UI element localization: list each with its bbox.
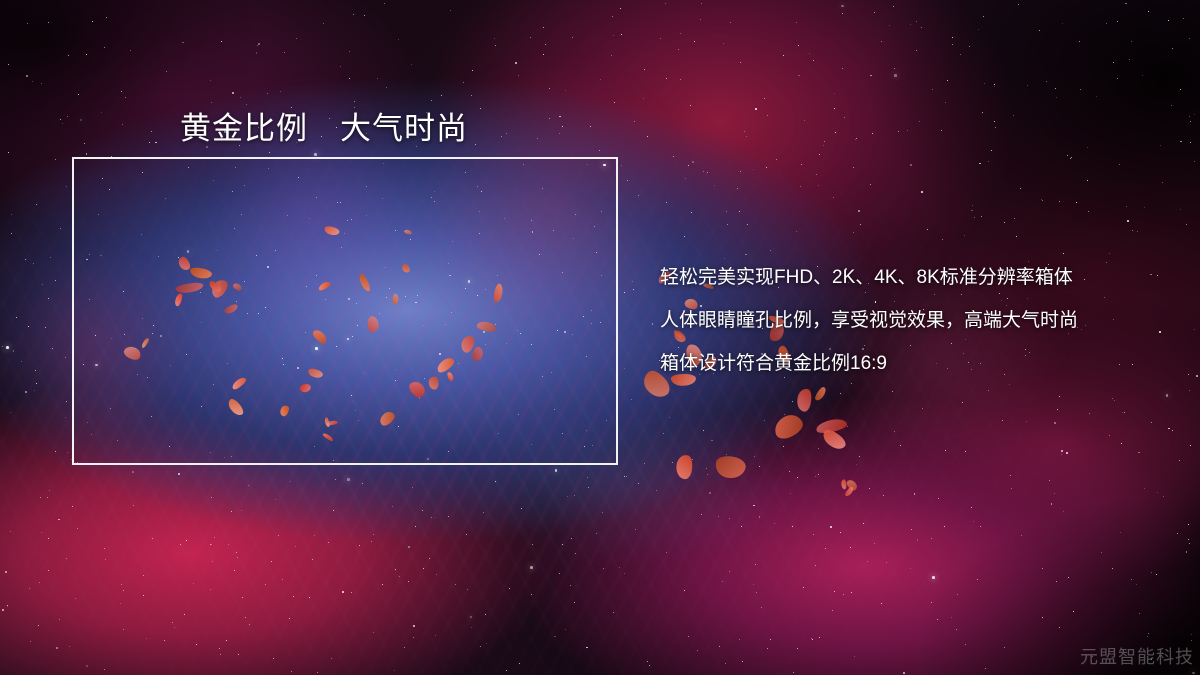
body-text-block: 轻松完美实现FHD、2K、4K、8K标准分辨率箱体 人体眼睛瞳孔比例，享受视觉效…: [660, 256, 1078, 385]
body-line-3: 箱体设计符合黄金比例16:9: [660, 342, 1078, 385]
body-line-2: 人体眼睛瞳孔比例，享受视觉效果，高端大气时尚: [660, 299, 1078, 342]
watermark: 元盟智能科技: [1080, 643, 1194, 669]
presentation-slide: 黄金比例 大气时尚 轻松完美实现FHD、2K、4K、8K标准分辨率箱体 人体眼睛…: [0, 0, 1200, 675]
body-line-1: 轻松完美实现FHD、2K、4K、8K标准分辨率箱体: [660, 256, 1078, 299]
page-title: 黄金比例 大气时尚: [180, 103, 468, 148]
image-frame-panel: [72, 157, 618, 465]
